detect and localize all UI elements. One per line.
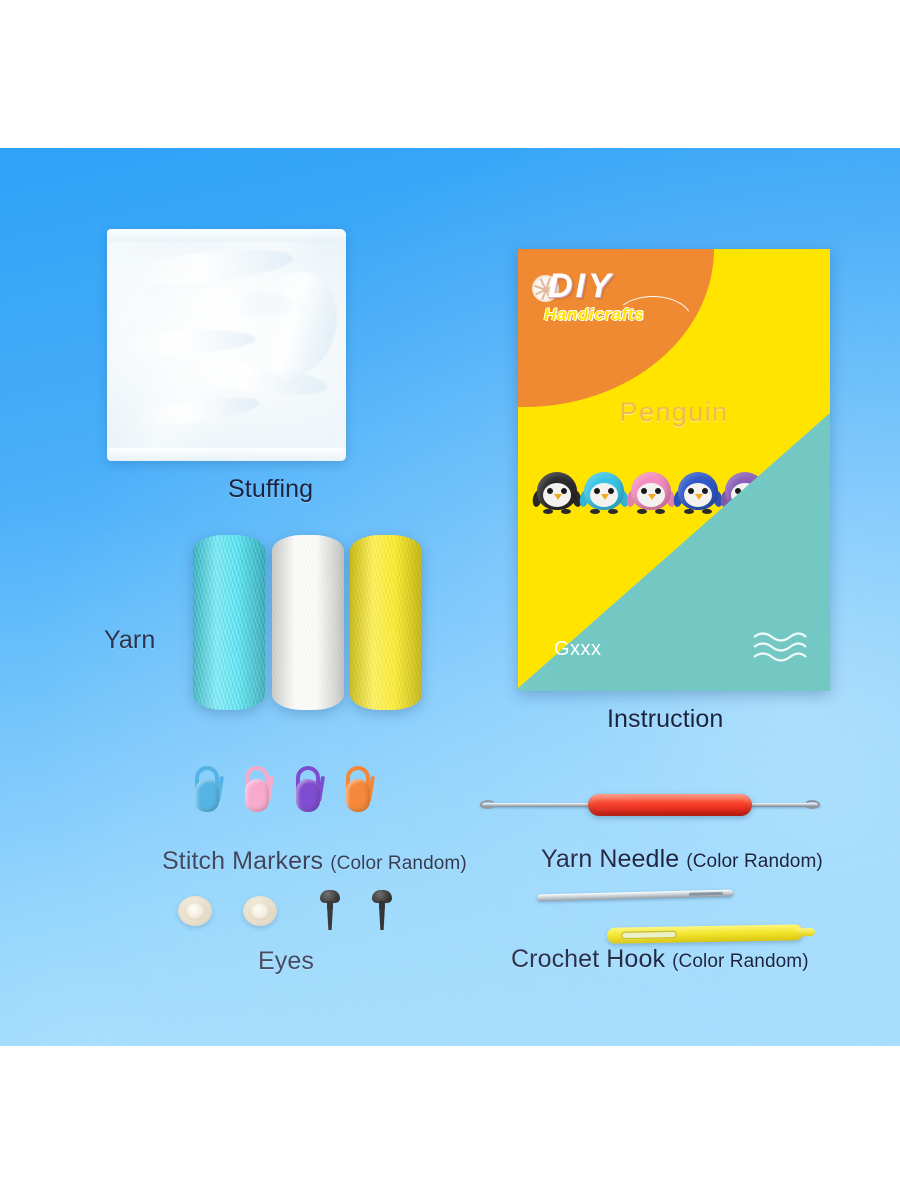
stitch-marker-blue [193, 766, 223, 812]
label-crochet-hook-main: Crochet Hook [511, 945, 665, 973]
penguin-pink [628, 472, 674, 514]
safety-eye-2 [372, 890, 392, 930]
stitch-marker-pink [243, 766, 273, 812]
stuffing-bag [107, 229, 346, 461]
label-stitch-markers-main: Stitch Markers [162, 847, 323, 875]
double-ended-crochet-hook [480, 788, 820, 822]
waves-icon [752, 629, 808, 663]
label-yarn-needle-main: Yarn Needle [541, 845, 679, 873]
plastic-yarn-needle [607, 924, 803, 943]
metal-yarn-needle [537, 890, 733, 902]
stitch-marker-orange [344, 766, 374, 812]
booklet-code: Gxxx [554, 638, 602, 661]
safety-eye-1 [320, 890, 340, 930]
label-crochet-hook: Crochet Hook (Color Random) [511, 945, 809, 974]
booklet-brand: DIY [548, 267, 614, 306]
booklet-brand-sub: Handicrafts [544, 305, 644, 325]
penguin-blue [675, 472, 721, 514]
eye-washer-2 [243, 896, 277, 926]
yarn-skein-cyan [193, 535, 265, 710]
stitch-marker-purple [294, 766, 324, 812]
label-crochet-hook-note: (Color Random) [672, 951, 809, 972]
label-yarn: Yarn [104, 626, 155, 655]
label-instruction: Instruction [607, 705, 723, 734]
product-photo: DIY Handicrafts Penguin [0, 148, 900, 1046]
label-yarn-needle-note: (Color Random) [686, 851, 823, 872]
yarn-skein-yellow [350, 535, 422, 710]
instruction-booklet: DIY Handicrafts Penguin [518, 249, 830, 691]
penguin-black-1 [534, 472, 580, 514]
yarn-skein-white [272, 535, 344, 710]
label-eyes: Eyes [258, 947, 314, 976]
label-yarn-needle: Yarn Needle (Color Random) [541, 845, 823, 874]
label-stitch-markers: Stitch Markers (Color Random) [162, 847, 467, 876]
booklet-title: Penguin [518, 397, 830, 428]
penguin-cyan [581, 472, 627, 514]
label-stuffing: Stuffing [228, 475, 313, 504]
eye-washer-1 [178, 896, 212, 926]
label-stitch-markers-note: (Color Random) [330, 853, 467, 874]
